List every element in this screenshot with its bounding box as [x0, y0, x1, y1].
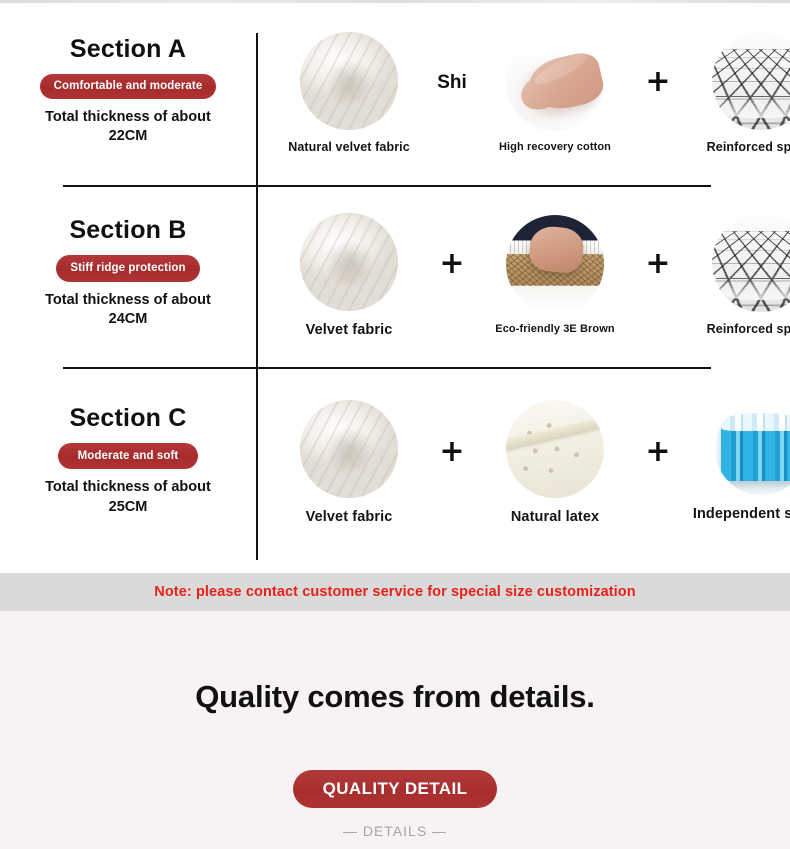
material-reinforced-spring: Reinforced spring	[686, 214, 790, 338]
quality-detail-button[interactable]: QUALITY DETAIL	[293, 770, 498, 808]
separator-plus-icon: +	[630, 67, 686, 97]
reinforced-spring-mesh-icon	[712, 214, 790, 312]
material-caption: Reinforced spring	[707, 322, 790, 338]
spec-row-section-b: Section B Stiff ridge protection Total t…	[0, 185, 790, 367]
separator-plus-icon: +	[630, 249, 686, 279]
customization-note-bar: Note: please contact customer service fo…	[0, 573, 790, 611]
material-caption: Velvet fabric	[306, 508, 393, 526]
material-reinforced-spring: Reinforced spring	[686, 32, 790, 156]
pocket-spring-bundle-icon	[715, 403, 790, 495]
reinforced-spring-mesh-icon	[712, 32, 790, 130]
customization-note-text: Note: please contact customer service fo…	[154, 584, 635, 600]
material-caption: Velvet fabric	[306, 321, 393, 339]
section-a-label-cell: Section A Comfortable and moderate Total…	[0, 3, 256, 185]
section-b-title: Section B	[69, 216, 186, 245]
section-b-label-cell: Section B Stiff ridge protection Total t…	[0, 185, 256, 367]
coconut-palm-fiber-board-icon	[506, 215, 604, 313]
velvet-fabric-roll-icon	[300, 213, 398, 311]
section-c-title: Section C	[69, 404, 186, 433]
section-a-materials: Natural velvet fabric Shi High recovery …	[256, 3, 790, 185]
section-b-badge: Stiff ridge protection	[56, 255, 199, 281]
separator-plus-icon: +	[424, 249, 480, 279]
material-caption: Eco-friendly 3E Brown	[495, 323, 614, 337]
material-natural-velvet-fabric: Natural velvet fabric	[274, 32, 424, 156]
material-velvet-fabric: Velvet fabric	[274, 213, 424, 339]
section-a-title: Section A	[70, 35, 186, 64]
material-caption: Natural velvet fabric	[288, 140, 410, 156]
quality-promo-block: Quality comes from details. QUALITY DETA…	[0, 611, 790, 849]
material-caption: Independent spring	[693, 505, 790, 523]
natural-latex-slab-icon	[506, 400, 604, 498]
hand-pressing-memory-foam-icon	[506, 33, 604, 131]
velvet-fabric-roll-icon	[300, 400, 398, 498]
section-c-badge: Moderate and soft	[58, 443, 198, 469]
section-c-label-cell: Section C Moderate and soft Total thickn…	[0, 367, 256, 560]
quality-subtitle: — DETAILS —	[343, 823, 447, 839]
material-caption: High recovery cotton	[499, 141, 611, 155]
material-caption: Reinforced spring	[707, 140, 790, 156]
section-a-badge: Comfortable and moderate	[40, 74, 217, 98]
section-c-materials: Velvet fabric + Natural latex + Independ…	[256, 367, 790, 560]
section-b-thickness: Total thickness of about 24CM	[38, 291, 218, 330]
section-a-thickness: Total thickness of about 22CM	[38, 108, 218, 147]
quality-heading: Quality comes from details.	[195, 679, 594, 715]
material-high-recovery-cotton: High recovery cotton	[480, 33, 630, 155]
material-eco-friendly-3e-brown: Eco-friendly 3E Brown	[480, 215, 630, 337]
separator-plus-icon: +	[424, 437, 480, 467]
material-natural-latex: Natural latex	[480, 400, 630, 526]
velvet-fabric-roll-icon	[300, 32, 398, 130]
section-b-materials: Velvet fabric + Eco-friendly 3E Brown + …	[256, 185, 790, 367]
spec-row-section-a: Section A Comfortable and moderate Total…	[0, 3, 790, 185]
section-c-thickness: Total thickness of about 25CM	[38, 478, 218, 517]
material-velvet-fabric: Velvet fabric	[274, 400, 424, 526]
separator-shi-text: Shi	[424, 73, 480, 92]
material-independent-spring: Independent spring	[686, 403, 790, 523]
spec-row-section-c: Section C Moderate and soft Total thickn…	[0, 367, 790, 560]
mattress-section-comparison-table: Section A Comfortable and moderate Total…	[0, 3, 790, 573]
separator-plus-icon: +	[630, 437, 686, 467]
material-caption: Natural latex	[511, 508, 599, 526]
